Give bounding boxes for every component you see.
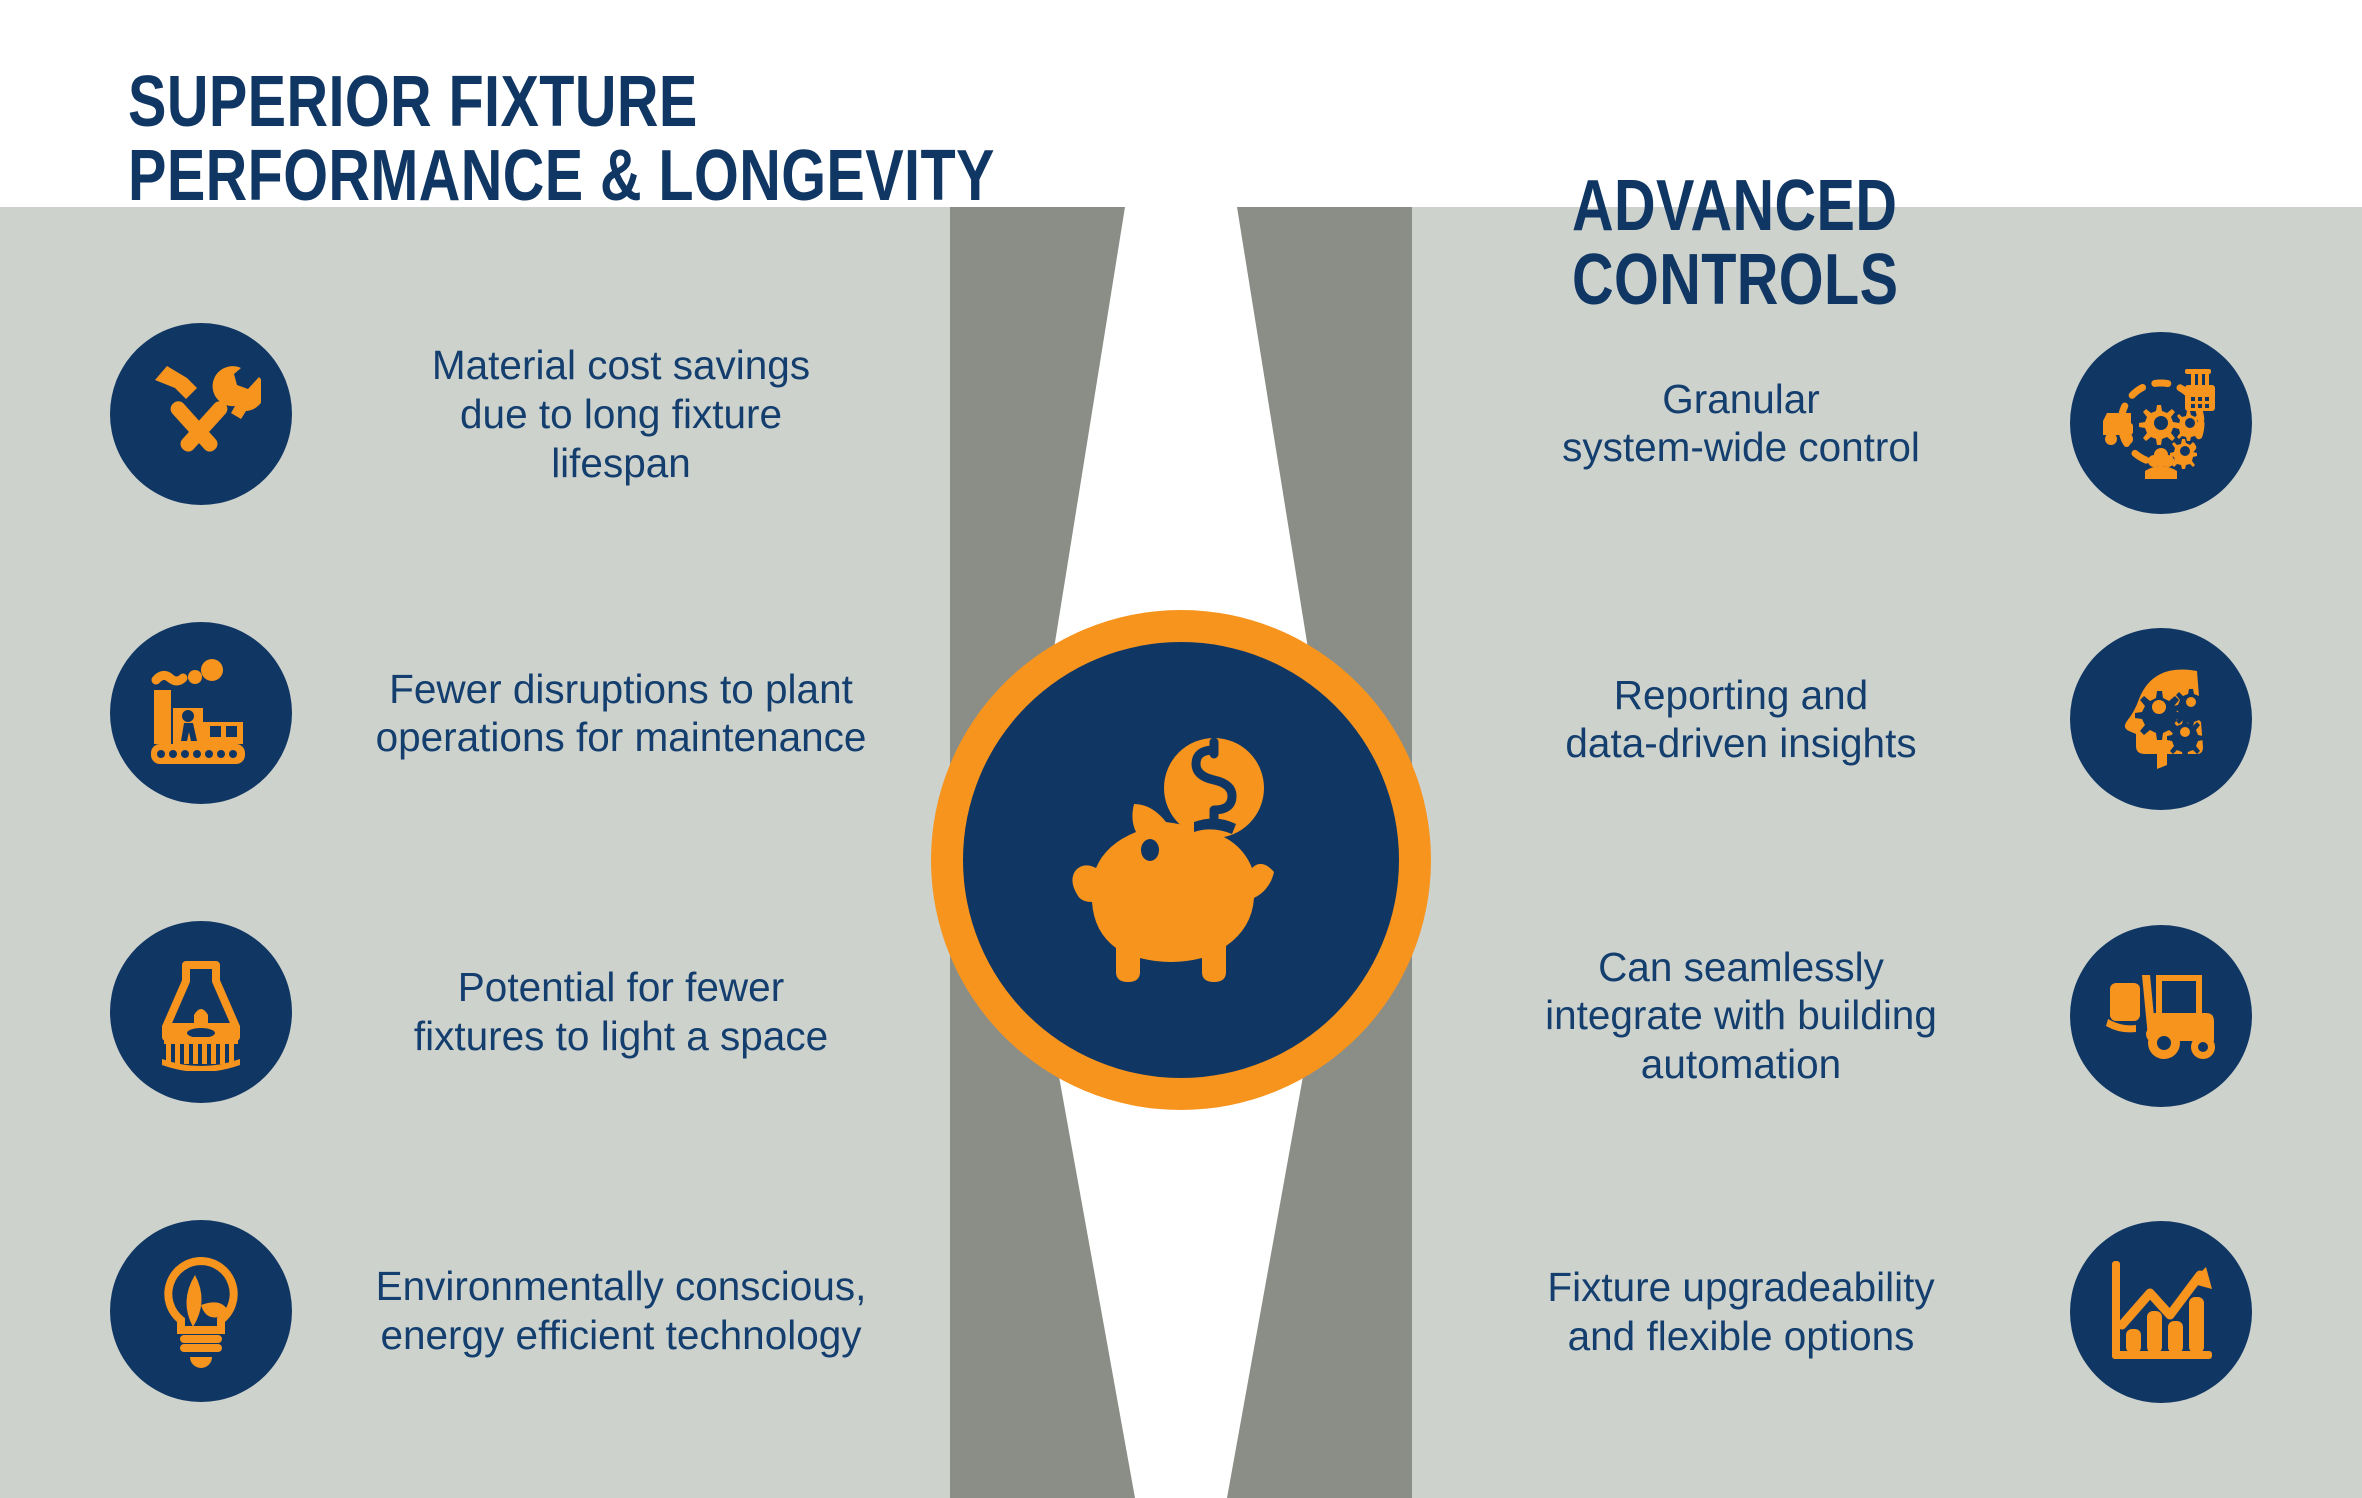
feature-label: Environmentally conscious, energy effici…: [322, 1262, 920, 1359]
medallion-navy-disc: [963, 642, 1399, 1078]
feature-label: Potential for fewer fixtures to light a …: [322, 963, 920, 1060]
feature-item-material-cost-savings[interactable]: Material cost savings due to long fixtur…: [110, 323, 920, 505]
factory-conveyor-icon: [110, 622, 292, 804]
feature-item-reporting-insights[interactable]: Reporting and data-driven insights: [1442, 628, 2252, 810]
piggy-bank-with-coin-icon: [1016, 710, 1346, 1010]
feature-item-building-automation[interactable]: Can seamlessly integrate with building a…: [1442, 925, 2252, 1107]
feature-item-fewer-fixtures[interactable]: Potential for fewer fixtures to light a …: [110, 921, 920, 1103]
feature-label: Reporting and data-driven insights: [1442, 671, 2040, 768]
feature-item-granular-control[interactable]: Granular system-wide control: [1442, 332, 2252, 514]
feature-label: Fixture upgradeability and flexible opti…: [1442, 1263, 2040, 1360]
hammer-wrench-icon: [110, 323, 292, 505]
left-feature-column: Material cost savings due to long fixtur…: [0, 225, 950, 1495]
feature-label: Granular system-wide control: [1442, 375, 2040, 472]
feature-label: Fewer disruptions to plant operations fo…: [322, 665, 920, 762]
right-feature-column: Granular system-wide control: [1412, 225, 2362, 1495]
high-bay-light-fixture-icon: [110, 921, 292, 1103]
feature-label: Material cost savings due to long fixtur…: [322, 341, 920, 487]
feature-item-fixture-upgradeability[interactable]: Fixture upgradeability and flexible opti…: [1442, 1221, 2252, 1403]
center-savings-medallion[interactable]: [931, 610, 1431, 1110]
left-column-heading: Superior Fixture Performance & Longevity: [128, 66, 1008, 213]
feature-item-fewer-disruptions[interactable]: Fewer disruptions to plant operations fo…: [110, 622, 920, 804]
eco-lightbulb-leaf-icon: [110, 1220, 292, 1402]
feature-item-environmentally-conscious[interactable]: Environmentally conscious, energy effici…: [110, 1220, 920, 1402]
connected-network-gears-icon: [2070, 332, 2252, 514]
forklift-icon: [2070, 925, 2252, 1107]
head-with-gears-icon: [2070, 628, 2252, 810]
feature-label: Can seamlessly integrate with building a…: [1442, 943, 2040, 1089]
growth-bar-chart-icon: [2070, 1221, 2252, 1403]
